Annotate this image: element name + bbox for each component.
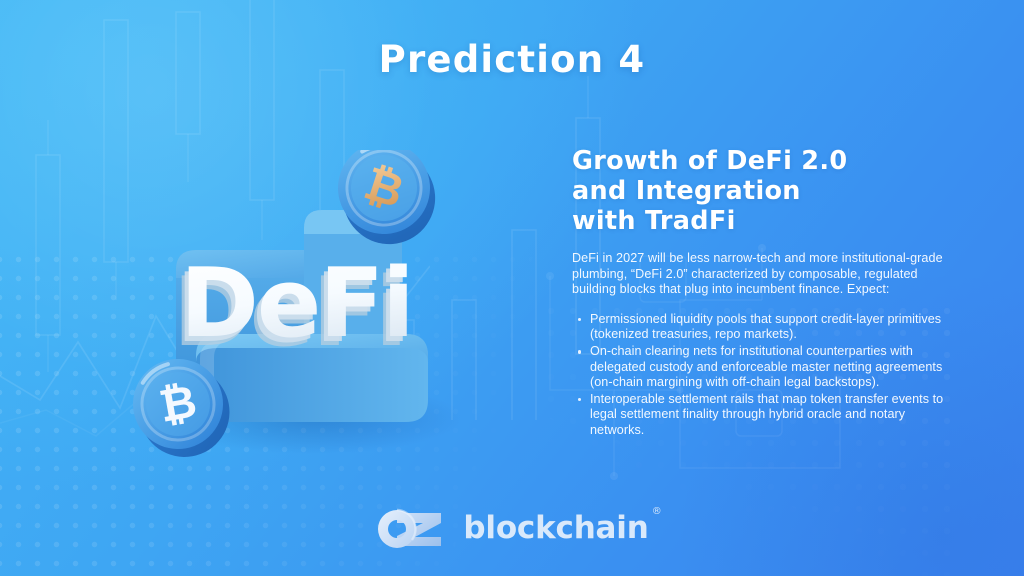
list-item: Interoperable settlement rails that map …	[572, 392, 952, 439]
brand-name-wrap: blockchain ®	[463, 513, 648, 544]
heading-line-2: and Integration	[572, 176, 952, 206]
list-item: On-chain clearing nets for institutional…	[572, 344, 952, 391]
brand-name: blockchain	[463, 510, 648, 546]
heading-line-1: Growth of DeFi 2.0	[572, 146, 952, 176]
bullet-list: Permissioned liquidity pools that suppor…	[572, 312, 952, 439]
heading-line-3: with TradFi	[572, 206, 952, 236]
list-item: Permissioned liquidity pools that suppor…	[572, 312, 952, 343]
ez-logo-mark-icon	[375, 506, 449, 550]
intro-paragraph: DeFi in 2027 will be less narrow-tech an…	[572, 251, 952, 298]
content-column: Growth of DeFi 2.0 and Integration with …	[572, 146, 952, 440]
defi-word: DeFi	[180, 249, 413, 359]
slide-canvas: Prediction 4	[0, 0, 1024, 576]
defi-3d-illustration: DeFi DeFi DeFi ₿	[118, 150, 488, 460]
page-title: Prediction 4	[0, 38, 1024, 81]
section-heading: Growth of DeFi 2.0 and Integration with …	[572, 146, 952, 236]
registered-trademark-icon: ®	[652, 507, 662, 517]
brand-logo: blockchain ®	[0, 506, 1024, 550]
